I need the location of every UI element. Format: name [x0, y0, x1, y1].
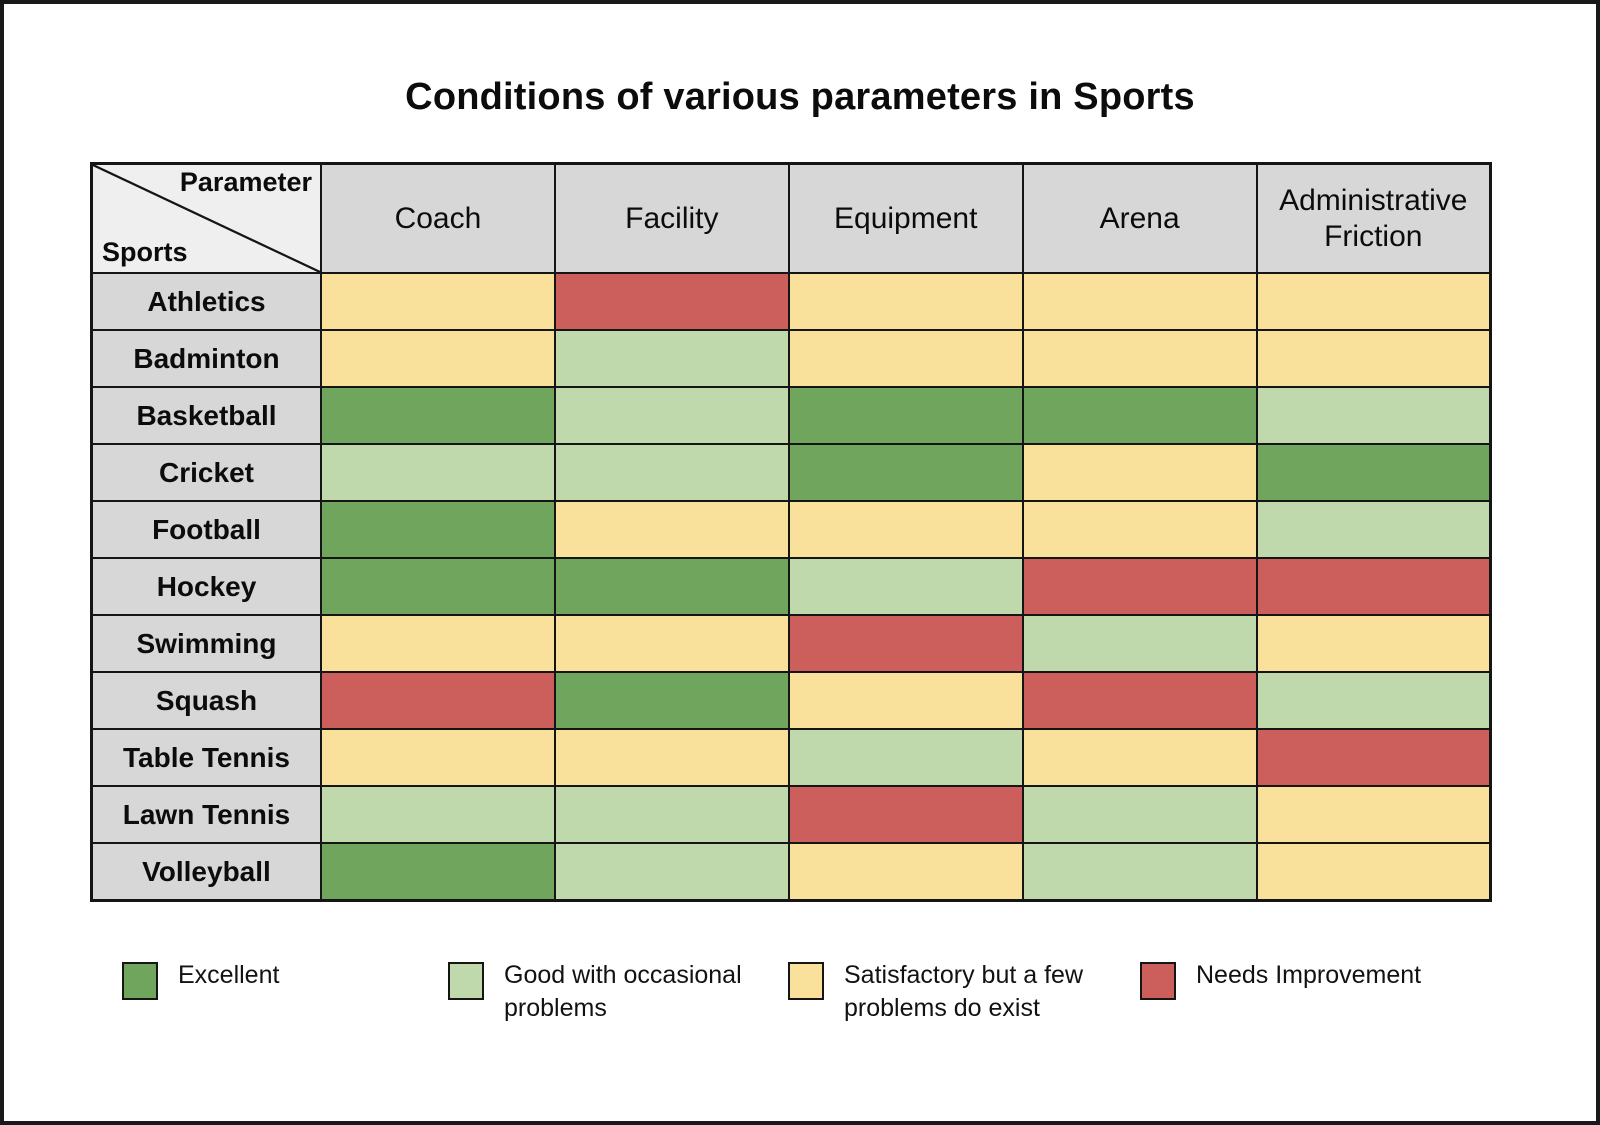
- cell-hockey-arena: [1023, 558, 1257, 615]
- cell-football-coach: [321, 501, 555, 558]
- cell-lawn-tennis-equipment: [789, 786, 1023, 843]
- table-row: Lawn Tennis: [92, 786, 1491, 843]
- cell-table-tennis-facility: [555, 729, 789, 786]
- cell-badminton-coach: [321, 330, 555, 387]
- cell-athletics-administrative-friction: [1257, 273, 1491, 330]
- row-header-lawn-tennis: Lawn Tennis: [92, 786, 322, 843]
- legend-swatch-excellent: [122, 962, 158, 1000]
- cell-hockey-equipment: [789, 558, 1023, 615]
- cell-basketball-arena: [1023, 387, 1257, 444]
- cell-lawn-tennis-coach: [321, 786, 555, 843]
- cell-lawn-tennis-administrative-friction: [1257, 786, 1491, 843]
- cell-athletics-facility: [555, 273, 789, 330]
- corner-sports-label: Sports: [102, 238, 188, 268]
- row-header-hockey: Hockey: [92, 558, 322, 615]
- row-header-athletics: Athletics: [92, 273, 322, 330]
- column-header-equipment: Equipment: [789, 164, 1023, 274]
- table-row: Swimming: [92, 615, 1491, 672]
- cell-table-tennis-equipment: [789, 729, 1023, 786]
- legend-label-good: Good with occasional problems: [504, 959, 774, 1025]
- table-row: Squash: [92, 672, 1491, 729]
- cell-basketball-equipment: [789, 387, 1023, 444]
- legend-label-needs: Needs Improvement: [1196, 959, 1421, 992]
- cell-squash-arena: [1023, 672, 1257, 729]
- row-header-volleyball: Volleyball: [92, 843, 322, 901]
- legend-swatch-needs: [1140, 962, 1176, 1000]
- table-row: Hockey: [92, 558, 1491, 615]
- legend: ExcellentGood with occasional problemsSa…: [122, 959, 1482, 1025]
- cell-squash-administrative-friction: [1257, 672, 1491, 729]
- cell-volleyball-coach: [321, 843, 555, 901]
- cell-lawn-tennis-facility: [555, 786, 789, 843]
- cell-badminton-administrative-friction: [1257, 330, 1491, 387]
- column-header-facility: Facility: [555, 164, 789, 274]
- row-header-squash: Squash: [92, 672, 322, 729]
- legend-swatch-satisfactory: [788, 962, 824, 1000]
- legend-item-needs: Needs Improvement: [1140, 959, 1440, 1000]
- table-row: Table Tennis: [92, 729, 1491, 786]
- cell-squash-coach: [321, 672, 555, 729]
- cell-swimming-administrative-friction: [1257, 615, 1491, 672]
- cell-cricket-equipment: [789, 444, 1023, 501]
- cell-table-tennis-administrative-friction: [1257, 729, 1491, 786]
- row-header-basketball: Basketball: [92, 387, 322, 444]
- cell-hockey-administrative-friction: [1257, 558, 1491, 615]
- cell-basketball-administrative-friction: [1257, 387, 1491, 444]
- cell-swimming-facility: [555, 615, 789, 672]
- cell-volleyball-equipment: [789, 843, 1023, 901]
- cell-football-facility: [555, 501, 789, 558]
- row-header-football: Football: [92, 501, 322, 558]
- table-row: Football: [92, 501, 1491, 558]
- cell-cricket-coach: [321, 444, 555, 501]
- row-header-cricket: Cricket: [92, 444, 322, 501]
- cell-lawn-tennis-arena: [1023, 786, 1257, 843]
- cell-football-equipment: [789, 501, 1023, 558]
- legend-item-good: Good with occasional problems: [448, 959, 788, 1025]
- figure-canvas: Conditions of various parameters in Spor…: [0, 0, 1600, 1125]
- cell-hockey-coach: [321, 558, 555, 615]
- cell-table-tennis-coach: [321, 729, 555, 786]
- cell-badminton-arena: [1023, 330, 1257, 387]
- table-row: Cricket: [92, 444, 1491, 501]
- row-header-table-tennis: Table Tennis: [92, 729, 322, 786]
- cell-hockey-facility: [555, 558, 789, 615]
- corner-axis-cell: Parameter Sports: [92, 164, 322, 274]
- cell-cricket-arena: [1023, 444, 1257, 501]
- legend-label-excellent: Excellent: [178, 959, 279, 992]
- conditions-matrix-table: Parameter Sports Coach Facility Equipmen…: [90, 162, 1492, 902]
- cell-badminton-facility: [555, 330, 789, 387]
- cell-volleyball-facility: [555, 843, 789, 901]
- legend-item-excellent: Excellent: [122, 959, 448, 1000]
- table-header: Parameter Sports Coach Facility Equipmen…: [92, 164, 1491, 274]
- column-header-arena: Arena: [1023, 164, 1257, 274]
- legend-item-satisfactory: Satisfactory but a few problems do exist: [788, 959, 1140, 1025]
- cell-basketball-coach: [321, 387, 555, 444]
- column-header-administrative-friction: Administrative Friction: [1257, 164, 1491, 274]
- cell-cricket-facility: [555, 444, 789, 501]
- cell-table-tennis-arena: [1023, 729, 1257, 786]
- cell-volleyball-arena: [1023, 843, 1257, 901]
- cell-swimming-arena: [1023, 615, 1257, 672]
- cell-volleyball-administrative-friction: [1257, 843, 1491, 901]
- row-header-swimming: Swimming: [92, 615, 322, 672]
- table-row: Badminton: [92, 330, 1491, 387]
- corner-parameter-label: Parameter: [180, 168, 312, 198]
- cell-basketball-facility: [555, 387, 789, 444]
- table-row: Volleyball: [92, 843, 1491, 901]
- legend-label-satisfactory: Satisfactory but a few problems do exist: [844, 959, 1114, 1025]
- table-body: AthleticsBadmintonBasketballCricketFootb…: [92, 273, 1491, 901]
- cell-cricket-administrative-friction: [1257, 444, 1491, 501]
- row-header-badminton: Badminton: [92, 330, 322, 387]
- cell-squash-facility: [555, 672, 789, 729]
- column-header-coach: Coach: [321, 164, 555, 274]
- cell-athletics-equipment: [789, 273, 1023, 330]
- table-row: Athletics: [92, 273, 1491, 330]
- cell-swimming-equipment: [789, 615, 1023, 672]
- cell-swimming-coach: [321, 615, 555, 672]
- cell-football-administrative-friction: [1257, 501, 1491, 558]
- cell-athletics-coach: [321, 273, 555, 330]
- cell-athletics-arena: [1023, 273, 1257, 330]
- table-row: Basketball: [92, 387, 1491, 444]
- legend-swatch-good: [448, 962, 484, 1000]
- cell-football-arena: [1023, 501, 1257, 558]
- page-title: Conditions of various parameters in Spor…: [4, 76, 1596, 119]
- header-row: Parameter Sports Coach Facility Equipmen…: [92, 164, 1491, 274]
- cell-badminton-equipment: [789, 330, 1023, 387]
- cell-squash-equipment: [789, 672, 1023, 729]
